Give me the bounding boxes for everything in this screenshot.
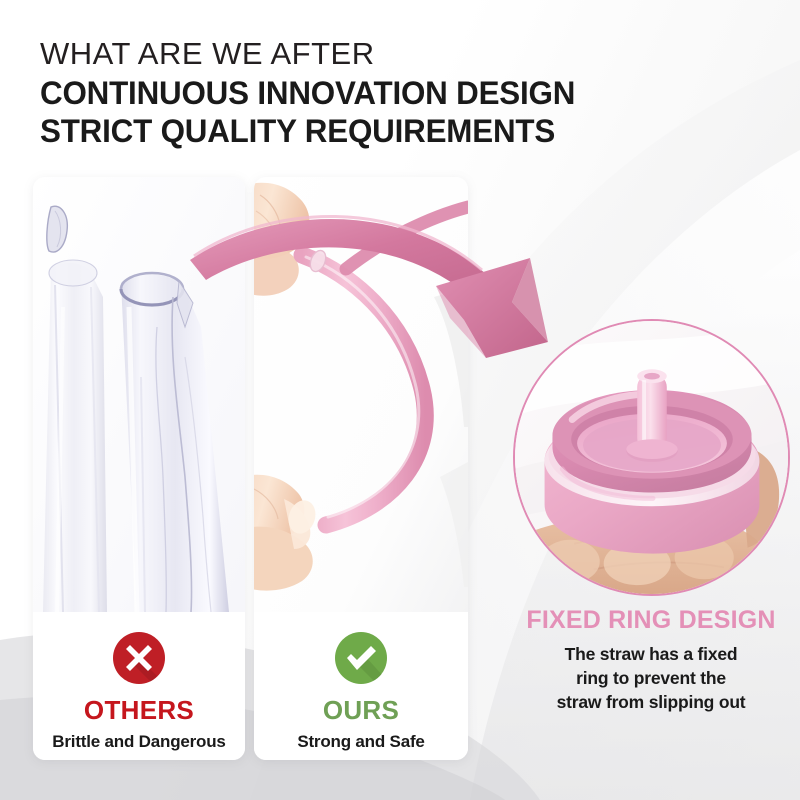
ours-photo bbox=[254, 177, 468, 612]
bottle-lid-image bbox=[515, 321, 788, 594]
bending-straw-image bbox=[254, 177, 468, 612]
headline-line-2: STRICT QUALITY REQUIREMENTS bbox=[40, 112, 746, 150]
headline-block: WHAT ARE WE AFTER CONTINUOUS INNOVATION … bbox=[40, 34, 760, 150]
others-verdict: OTHERS bbox=[84, 695, 194, 726]
ours-subtitle: Strong and Safe bbox=[297, 732, 424, 752]
ours-verdict: OURS bbox=[323, 695, 399, 726]
others-photo bbox=[33, 177, 245, 612]
caption-title: FIXED RING DESIGN bbox=[505, 606, 797, 635]
check-circle-icon bbox=[335, 632, 387, 684]
infographic-page: WHAT ARE WE AFTER CONTINUOUS INNOVATION … bbox=[0, 0, 800, 800]
caption-line-2: ring to prevent the bbox=[505, 666, 797, 690]
ours-label-area: OURS Strong and Safe bbox=[254, 612, 468, 760]
comparison-card-others[interactable]: OTHERS Brittle and Dangerous bbox=[33, 177, 245, 760]
headline-line-1: CONTINUOUS INNOVATION DESIGN bbox=[40, 74, 746, 112]
x-circle-icon bbox=[113, 632, 165, 684]
headline-eyebrow: WHAT ARE WE AFTER bbox=[40, 34, 760, 74]
cracked-straw-image bbox=[33, 177, 245, 612]
fixed-ring-caption: FIXED RING DESIGN The straw has a fixed … bbox=[505, 606, 797, 714]
others-label-area: OTHERS Brittle and Dangerous bbox=[33, 612, 245, 760]
caption-line-3: straw from slipping out bbox=[505, 690, 797, 714]
comparison-card-ours[interactable]: OURS Strong and Safe bbox=[254, 177, 468, 760]
fixed-ring-callout-circle bbox=[513, 319, 790, 596]
caption-body: The straw has a fixed ring to prevent th… bbox=[505, 642, 797, 714]
others-subtitle: Brittle and Dangerous bbox=[52, 732, 225, 752]
caption-line-1: The straw has a fixed bbox=[505, 642, 797, 666]
